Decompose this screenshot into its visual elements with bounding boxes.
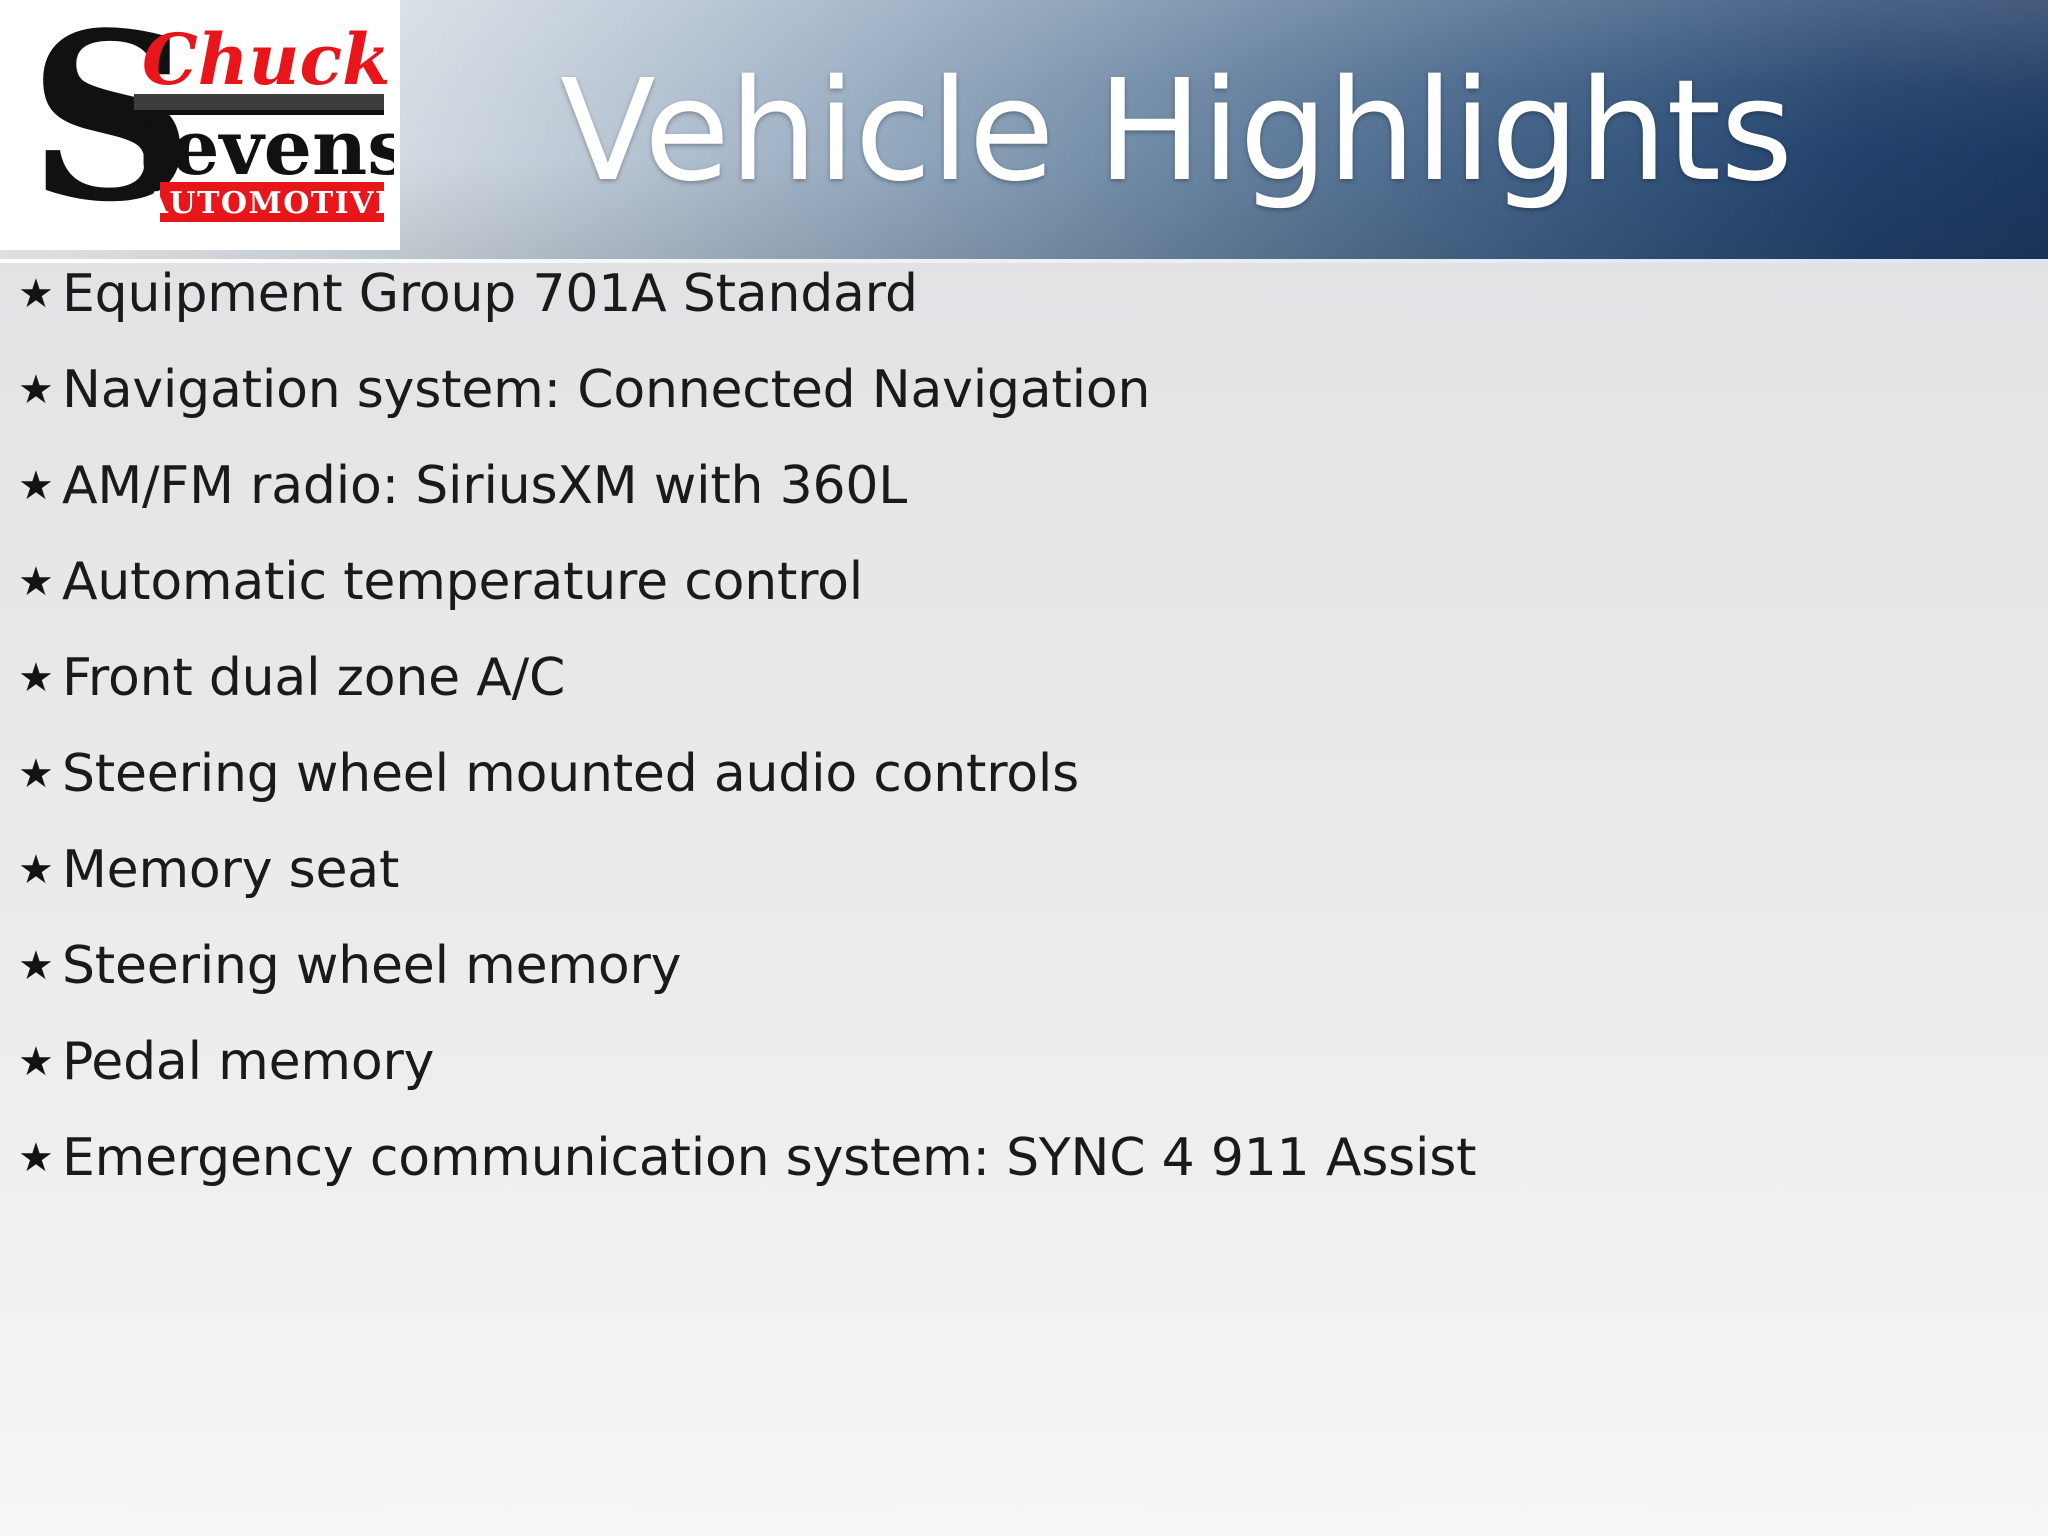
- list-item-label: Memory seat: [62, 842, 2028, 898]
- star-bullet-icon: ★: [18, 370, 62, 410]
- logo-tagline: AUTOMOTIVE: [144, 186, 394, 221]
- chuck-stevens-logo-svg: S Chuck tevens AUTOMOTIVE: [24, 6, 394, 241]
- svg-text:Chuck: Chuck: [142, 18, 391, 101]
- star-bullet-icon: ★: [18, 562, 62, 602]
- page-title: Vehicle Highlights: [560, 24, 2030, 239]
- svg-text:tevens: tevens: [136, 103, 394, 192]
- dealer-logo-artwork: S Chuck tevens AUTOMOTIVE: [24, 6, 394, 241]
- vehicle-highlights-list: ★ Equipment Group 701A Standard ★ Naviga…: [0, 262, 2048, 1536]
- list-item: ★ Steering wheel memory: [18, 918, 2028, 1014]
- list-item-label: Automatic temperature control: [62, 554, 2028, 610]
- list-item: ★ Navigation system: Connected Navigatio…: [18, 342, 2028, 438]
- list-item-label: AM/FM radio: SiriusXM with 360L: [62, 458, 2028, 514]
- star-bullet-icon: ★: [18, 1042, 62, 1082]
- list-item-label: Navigation system: Connected Navigation: [62, 362, 2028, 418]
- list-item: ★ Memory seat: [18, 822, 2028, 918]
- list-item: ★ Emergency communication system: SYNC 4…: [18, 1110, 2028, 1206]
- list-item-label: Equipment Group 701A Standard: [62, 266, 2028, 322]
- logo-word-chuck: Chuck: [142, 18, 391, 101]
- logo-word-stevens: tevens: [136, 103, 394, 192]
- list-item: ★ AM/FM radio: SiriusXM with 360L: [18, 438, 2028, 534]
- list-item: ★ Equipment Group 701A Standard: [18, 246, 2028, 342]
- list-item-label: Steering wheel memory: [62, 938, 2028, 994]
- list-item: ★ Pedal memory: [18, 1014, 2028, 1110]
- star-bullet-icon: ★: [18, 946, 62, 986]
- star-bullet-icon: ★: [18, 466, 62, 506]
- list-item: ★ Automatic temperature control: [18, 534, 2028, 630]
- vehicle-highlights-slide: S Chuck tevens AUTOMOTIVE: [0, 0, 2048, 1536]
- svg-text:AUTOMOTIVE: AUTOMOTIVE: [144, 186, 394, 221]
- star-bullet-icon: ★: [18, 850, 62, 890]
- star-bullet-icon: ★: [18, 754, 62, 794]
- list-item-label: Emergency communication system: SYNC 4 9…: [62, 1130, 2028, 1186]
- list-item-label: Pedal memory: [62, 1034, 2028, 1090]
- list-item: ★ Front dual zone A/C: [18, 630, 2028, 726]
- list-item: ★ Steering wheel mounted audio controls: [18, 726, 2028, 822]
- star-bullet-icon: ★: [18, 274, 62, 314]
- star-bullet-icon: ★: [18, 658, 62, 698]
- list-item-label: Front dual zone A/C: [62, 650, 2028, 706]
- list-item-label: Steering wheel mounted audio controls: [62, 746, 2028, 802]
- dealer-logo[interactable]: S Chuck tevens AUTOMOTIVE: [0, 0, 400, 250]
- star-bullet-icon: ★: [18, 1138, 62, 1178]
